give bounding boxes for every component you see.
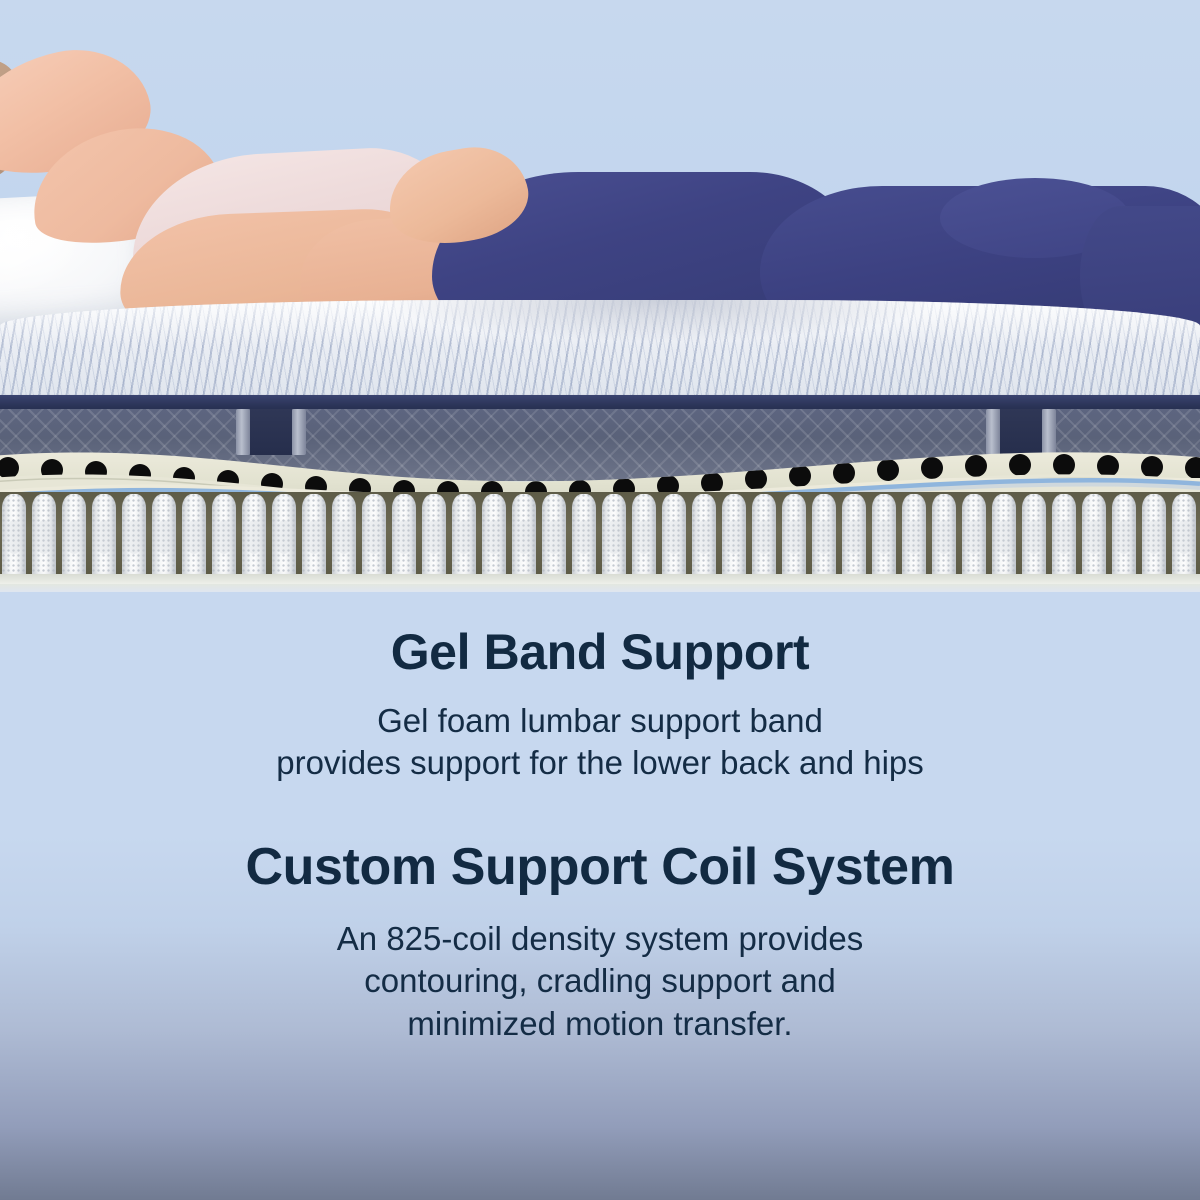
- custom-support-coil-system-body-line-3: minimized motion transfer.: [0, 1003, 1200, 1045]
- custom-support-coil-system-heading: Custom Support Coil System: [0, 840, 1200, 894]
- pocketed-coil-system: [0, 492, 1200, 584]
- coil-base-strip: [0, 574, 1200, 584]
- gel-band-support-body-line-1: Gel foam lumbar support band: [0, 700, 1200, 742]
- feature-panel-page: Gel Band Support Gel foam lumbar support…: [0, 0, 1200, 1200]
- feature-block-gel-band-support: Gel Band Support Gel foam lumbar support…: [0, 626, 1200, 784]
- gel-band-support-body-line-2: provides support for the lower back and …: [0, 742, 1200, 784]
- body-contact-shadow: [380, 300, 940, 342]
- feature-text-panel: Gel Band Support Gel foam lumbar support…: [0, 592, 1200, 1200]
- custom-support-coil-system-body: An 825-coil density system provides cont…: [0, 918, 1200, 1045]
- custom-support-coil-system-body-line-1: An 825-coil density system provides: [0, 918, 1200, 960]
- gel-band-support-body: Gel foam lumbar support band provides su…: [0, 700, 1200, 784]
- mattress-hero-photo: [0, 0, 1200, 592]
- mattress-base-edge: [0, 584, 1200, 592]
- custom-support-coil-system-body-line-2: contouring, cradling support and: [0, 960, 1200, 1002]
- gel-band-support-heading: Gel Band Support: [0, 626, 1200, 678]
- feature-block-custom-support-coil-system: Custom Support Coil System An 825-coil d…: [0, 840, 1200, 1045]
